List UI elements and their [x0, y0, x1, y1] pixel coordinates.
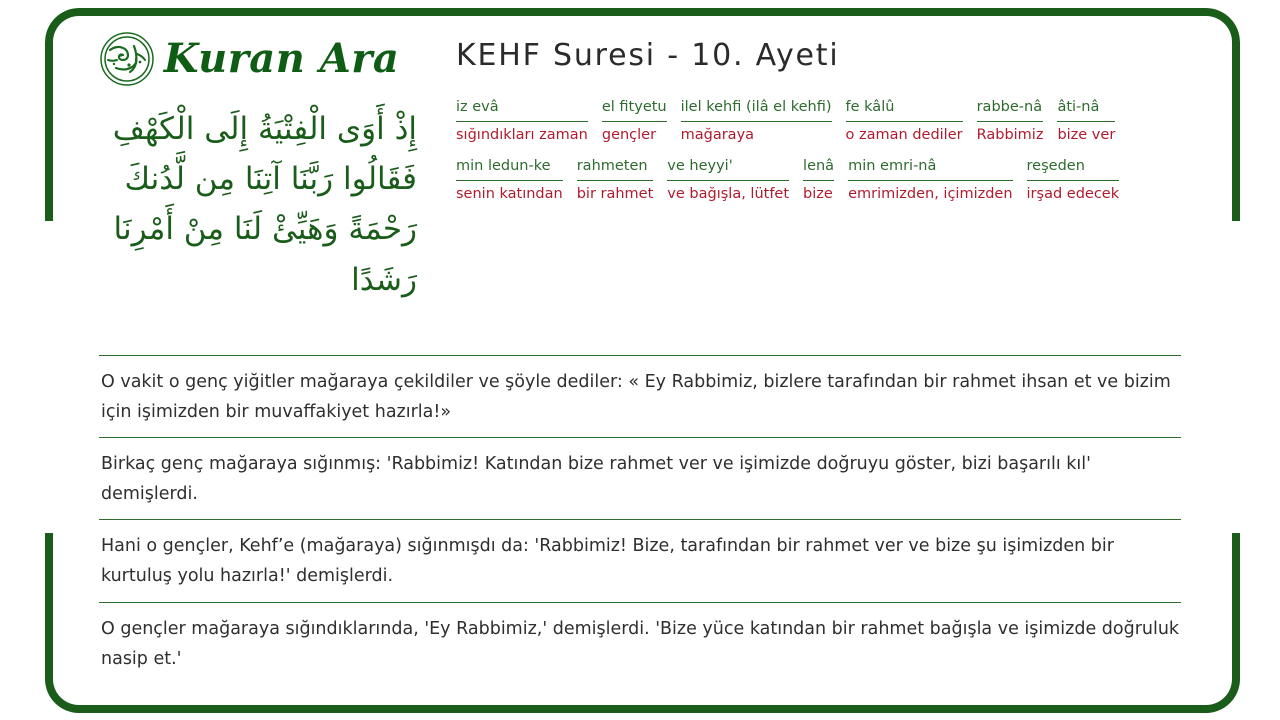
word-cell[interactable]: ve heyyi' ve bağışla, lütfet	[667, 157, 789, 204]
word-meaning: ve bağışla, lütfet	[667, 181, 789, 205]
translation-item: O vakit o genç yiğitler mağaraya çekildi…	[99, 355, 1181, 437]
word-meaning: bir rahmet	[577, 181, 654, 205]
word-meaning: o zaman dediler	[846, 122, 963, 146]
translation-text: Birkaç genç mağaraya sığınmış: 'Rabbimiz…	[101, 449, 1181, 509]
word-cell[interactable]: rabbe-nâ Rabbimiz	[977, 98, 1044, 145]
word-transliteration: min ledun-ke	[456, 157, 563, 181]
word-cell[interactable]: ilel kehfi (ilâ el kehfi) mağaraya	[681, 98, 832, 145]
word-cell[interactable]: rahmeten bir rahmet	[577, 157, 654, 204]
word-cell[interactable]: iz evâ sığındıkları zaman	[456, 98, 588, 145]
translation-text: O gençler mağaraya sığındıklarında, 'Ey …	[101, 614, 1181, 674]
word-transliteration: rahmeten	[577, 157, 654, 181]
word-by-word-table: iz evâ sığındıkları zaman el fityetu gen…	[456, 98, 1156, 216]
translation-item: O gençler mağaraya sığındıklarında, 'Ey …	[99, 602, 1181, 684]
word-meaning: irşad edecek	[1027, 181, 1120, 205]
word-meaning: Rabbimiz	[977, 122, 1044, 146]
page-header: Kuran Ara إِذْ أَوَى الْفِتْيَةُ إِلَى ا…	[0, 0, 1280, 330]
translation-text: O vakit o genç yiğitler mağaraya çekildi…	[101, 367, 1181, 427]
word-meaning: bize	[803, 181, 834, 205]
logo-row: Kuran Ara	[75, 28, 420, 90]
word-meaning: bize ver	[1057, 122, 1115, 146]
word-cell[interactable]: fe kâlû o zaman dediler	[846, 98, 963, 145]
word-transliteration: ilel kehfi (ilâ el kehfi)	[681, 98, 832, 122]
translation-text: Hani o gençler, Kehf’e (mağaraya) sığınm…	[101, 531, 1181, 591]
word-meaning: emrimizden, içimizden	[848, 181, 1012, 205]
word-meaning: senin katından	[456, 181, 563, 205]
word-by-word-row: iz evâ sığındıkları zaman el fityetu gen…	[456, 98, 1156, 145]
word-transliteration: lenâ	[803, 157, 834, 181]
word-cell[interactable]: min emri-nâ emrimizden, içimizden	[848, 157, 1012, 204]
translations-list: O vakit o genç yiğitler mağaraya çekildi…	[99, 355, 1181, 684]
word-cell[interactable]: âti-nâ bize ver	[1057, 98, 1115, 145]
word-by-word-row: min ledun-ke senin katından rahmeten bir…	[456, 157, 1156, 204]
quran-calligraphy-emblem-icon	[96, 28, 158, 90]
word-cell[interactable]: lenâ bize	[803, 157, 834, 204]
word-transliteration: min emri-nâ	[848, 157, 1012, 181]
word-transliteration: rabbe-nâ	[977, 98, 1044, 122]
word-transliteration: el fityetu	[602, 98, 667, 122]
word-transliteration: reşeden	[1027, 157, 1120, 181]
translation-item: Hani o gençler, Kehf’e (mağaraya) sığınm…	[99, 519, 1181, 601]
word-meaning: gençler	[602, 122, 667, 146]
arabic-verse-text: إِذْ أَوَى الْفِتْيَةُ إِلَى الْكَهْفِ ف…	[87, 104, 417, 305]
logo-wordmark: Kuran Ara	[164, 39, 400, 79]
word-cell[interactable]: reşeden irşad edecek	[1027, 157, 1120, 204]
word-meaning: mağaraya	[681, 122, 832, 146]
site-logo[interactable]: Kuran Ara إِذْ أَوَى الْفِتْيَةُ إِلَى ا…	[75, 28, 420, 305]
word-transliteration: fe kâlû	[846, 98, 963, 122]
word-transliteration: ve heyyi'	[667, 157, 789, 181]
word-meaning: sığındıkları zaman	[456, 122, 588, 146]
word-transliteration: âti-nâ	[1057, 98, 1115, 122]
page-title: KEHF Suresi - 10. Ayeti	[456, 38, 839, 73]
word-cell[interactable]: min ledun-ke senin katından	[456, 157, 563, 204]
word-transliteration: iz evâ	[456, 98, 588, 122]
translation-item: Birkaç genç mağaraya sığınmış: 'Rabbimiz…	[99, 437, 1181, 519]
word-cell[interactable]: el fityetu gençler	[602, 98, 667, 145]
